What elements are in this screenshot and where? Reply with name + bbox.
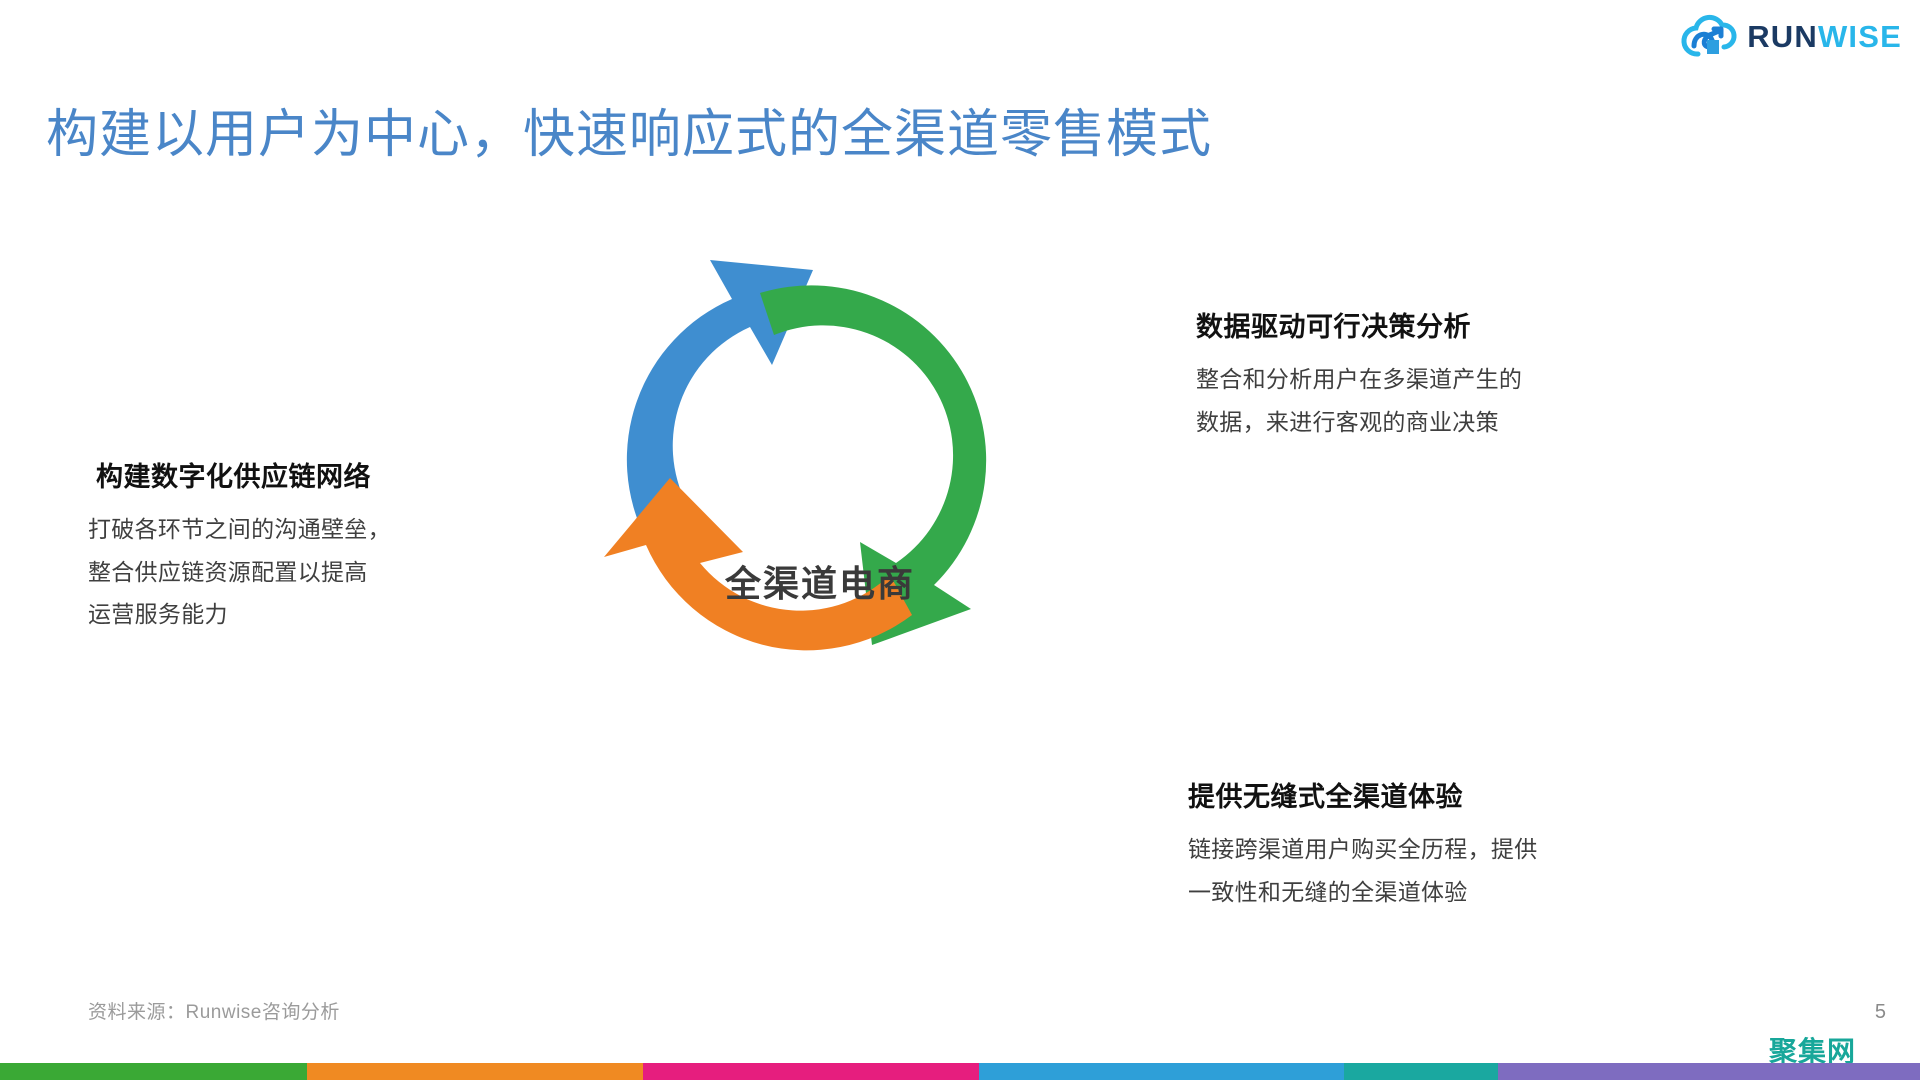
logo-text-wise: WISE <box>1818 19 1902 54</box>
body-line: 链接跨渠道用户购买全历程，提供 <box>1188 828 1538 871</box>
block-body: 整合和分析用户在多渠道产生的 数据，来进行客观的商业决策 <box>1196 358 1522 443</box>
bar-purple <box>1498 1063 1920 1080</box>
bottom-color-bar <box>0 1063 1920 1080</box>
body-line: 打破各环节之间的沟通壁垒， <box>88 508 391 551</box>
runwise-logo: RUNWISE <box>1681 14 1902 58</box>
text-block-seamless-experience: 提供无缝式全渠道体验 链接跨渠道用户购买全历程，提供 一致性和无缝的全渠道体验 <box>1188 775 1538 913</box>
text-block-data-driven: 数据驱动可行决策分析 整合和分析用户在多渠道产生的 数据，来进行客观的商业决策 <box>1196 305 1522 443</box>
body-line: 一致性和无缝的全渠道体验 <box>1188 871 1538 914</box>
source-note: 资料来源：Runwise咨询分析 <box>88 997 340 1024</box>
body-line: 数据，来进行客观的商业决策 <box>1196 401 1522 444</box>
bar-blue <box>979 1063 1344 1080</box>
bar-teal <box>1344 1063 1498 1080</box>
text-block-supply-chain: 构建数字化供应链网络 打破各环节之间的沟通壁垒， 整合供应链资源配置以提高 运营… <box>88 455 391 636</box>
cycle-diagram-svg <box>560 215 1080 715</box>
block-heading: 提供无缝式全渠道体验 <box>1188 775 1538 814</box>
bar-pink <box>643 1063 979 1080</box>
page-number: 5 <box>1875 1001 1886 1024</box>
logo-text-run: RUN <box>1747 19 1818 54</box>
block-body: 打破各环节之间的沟通壁垒， 整合供应链资源配置以提高 运营服务能力 <box>88 508 391 636</box>
bar-green <box>0 1063 307 1080</box>
diagram-center-label: 全渠道电商 <box>560 555 1080 607</box>
slide: RUNWISE 构建以用户为中心，快速响应式的全渠道零售模式 全渠道电商 构建数… <box>0 0 1920 1080</box>
body-line: 整合和分析用户在多渠道产生的 <box>1196 358 1522 401</box>
body-line: 运营服务能力 <box>88 593 391 636</box>
runwise-cloud-arrow-icon <box>1681 14 1737 58</box>
block-heading: 构建数字化供应链网络 <box>88 455 391 494</box>
bar-orange <box>307 1063 643 1080</box>
logo-wordmark: RUNWISE <box>1747 21 1902 52</box>
block-body: 链接跨渠道用户购买全历程，提供 一致性和无缝的全渠道体验 <box>1188 828 1538 913</box>
block-heading: 数据驱动可行决策分析 <box>1196 305 1522 344</box>
cycle-diagram <box>560 215 1080 715</box>
page-title: 构建以用户为中心，快速响应式的全渠道零售模式 <box>46 92 1212 167</box>
body-line: 整合供应链资源配置以提高 <box>88 551 391 594</box>
